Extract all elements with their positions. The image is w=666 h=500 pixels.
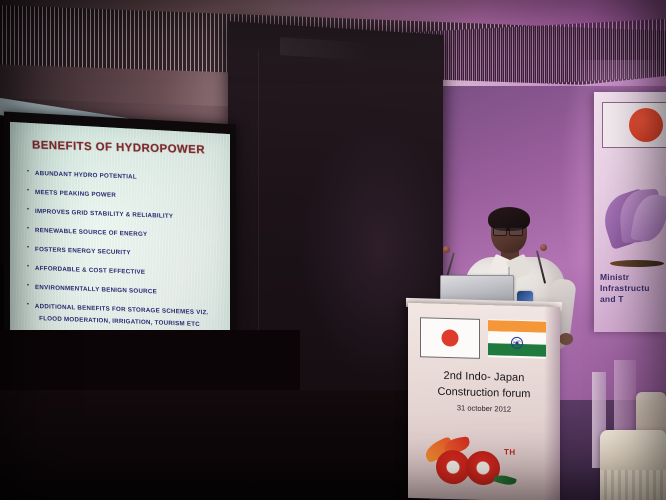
list-item: FOSTERS ENERGY SECURITY [26, 245, 222, 261]
list-item: RENEWABLE SOURCE OF ENERGY [26, 226, 222, 242]
speaker-hand [559, 333, 573, 345]
banner-text-line3: and T [600, 294, 666, 305]
list-item: ENVIRONMENTALLY BENIGN SOURCE [26, 283, 222, 299]
bullet-text: FOSTERS ENERGY SECURITY [35, 246, 131, 257]
list-item: MEETS PEAKING POWER [26, 188, 222, 204]
microphone-icon-left [443, 246, 450, 253]
japan-flag-icon [420, 317, 480, 359]
chair-skirt [600, 470, 666, 500]
list-item: IMPROVES GRID STABILITY & RELIABILITY [26, 207, 222, 223]
banner-divider [610, 260, 664, 267]
anniversary-logo: TH [422, 439, 542, 498]
list-item: ADDITIONAL BENEFITS FOR STORAGE SCHEMES … [26, 302, 222, 330]
banner-japan-flag-icon [602, 102, 666, 148]
bullet-text: MEETS PEAKING POWER [35, 189, 116, 199]
india-flag-icon [488, 319, 546, 359]
bullet-text: AFFORDABLE & COST EFFECTIVE [35, 265, 145, 276]
glasses-icon [493, 227, 523, 234]
japan-flag-disc [442, 329, 459, 346]
podium-shading [544, 307, 560, 500]
list-item: AFFORDABLE & COST EFFECTIVE [26, 264, 222, 280]
event-date: 31 october 2012 [408, 402, 560, 415]
ashoka-chakra-icon [511, 337, 523, 349]
conference-stage-photo: BENEFITS OF HYDROPOWER ABUNDANT HYDRO PO… [0, 0, 666, 500]
banner-japan-flag-disc [629, 108, 663, 142]
bullet-text-continued: FLOOD MODERATION, IRRIGATION, TOURISM ET… [35, 314, 222, 330]
banner-text-line1: Ministr [600, 272, 666, 283]
bullet-text: IMPROVES GRID STABILITY & RELIABILITY [35, 208, 173, 220]
banner-text-block: Ministr Infrastructu and T [600, 272, 666, 305]
swirl-emblem-icon [600, 188, 664, 250]
floor-foreground [0, 390, 470, 500]
event-title-line2: Construction forum [408, 385, 560, 401]
ministry-banner: Ministr Infrastructu and T [594, 92, 666, 332]
background-pillar-far [614, 360, 636, 430]
bullet-text: RENEWABLE SOURCE OF ENERGY [35, 227, 148, 238]
event-title-line1: 2nd Indo- Japan [408, 369, 560, 385]
podium: 2nd Indo- Japan Construction forum 31 oc… [408, 303, 560, 500]
microphone-icon-right [540, 244, 547, 251]
slide-bullet-list: ABUNDANT HYDRO POTENTIAL MEETS PEAKING P… [26, 167, 222, 342]
anniversary-leaf-icon [493, 472, 517, 487]
bullet-text: ENVIRONMENTALLY BENIGN SOURCE [35, 284, 157, 295]
banner-text-line2: Infrastructu [600, 283, 666, 294]
anniversary-suffix: TH [504, 448, 516, 457]
bullet-text: ABUNDANT HYDRO POTENTIAL [35, 170, 137, 181]
podium-flags [420, 317, 546, 363]
